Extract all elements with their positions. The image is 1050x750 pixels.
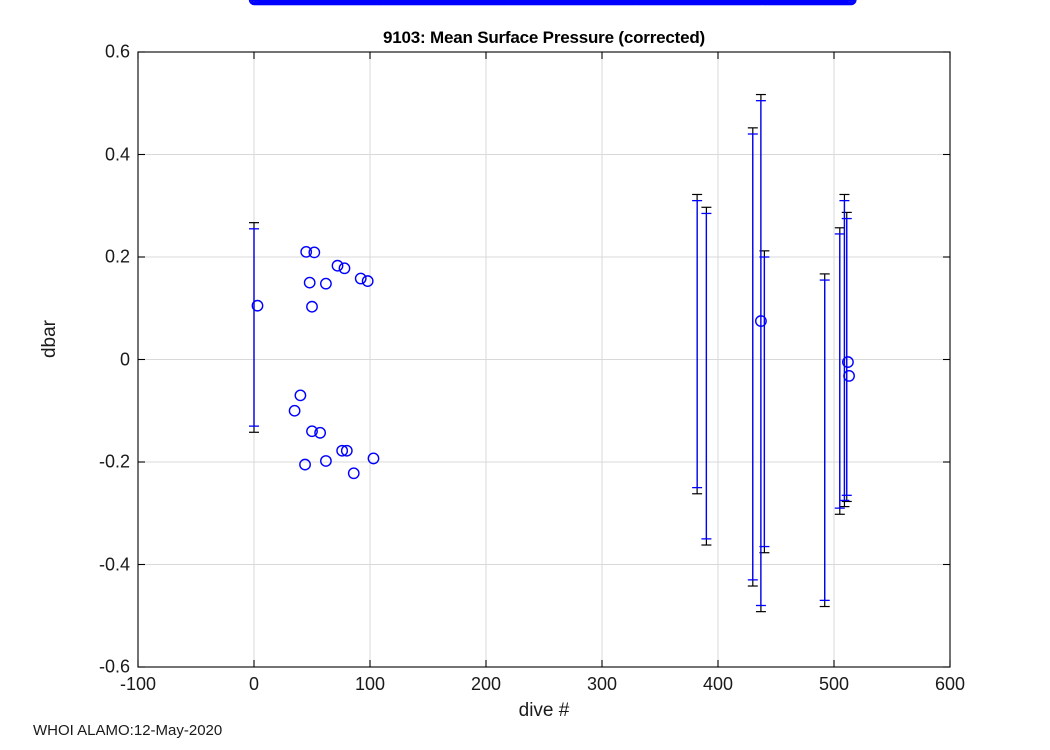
x-tick-label: 100 <box>330 674 410 695</box>
y-axis-tick-labels: 0.60.40.20-0.2-0.4-0.6 <box>68 0 130 750</box>
data-point-marker-outlier <box>295 390 305 400</box>
y-tick-label: 0 <box>70 349 130 370</box>
x-tick-label: 300 <box>562 674 642 695</box>
x-tick-label: 400 <box>678 674 758 695</box>
y-tick-label: 0.2 <box>70 247 130 268</box>
x-tick-label: 600 <box>910 674 990 695</box>
y-tick-label: -0.2 <box>70 452 130 473</box>
y-tick-label: 0.4 <box>70 144 130 165</box>
data-point-marker-outlier <box>349 468 359 478</box>
data-point-marker-outlier <box>321 278 331 288</box>
data-series-errorbars <box>249 0 856 612</box>
data-point-marker-outlier <box>289 406 299 416</box>
chart-title: 9103: Mean Surface Pressure (corrected) <box>138 28 950 48</box>
data-point-marker-outlier <box>339 263 349 273</box>
data-point-marker-outlier <box>356 273 366 283</box>
y-tick-label: -0.4 <box>70 554 130 575</box>
data-point-marker-outlier <box>362 276 372 286</box>
grid-lines <box>138 52 950 667</box>
plot-area <box>0 0 1050 750</box>
x-tick-label: 200 <box>446 674 526 695</box>
x-tick-label: 500 <box>794 674 874 695</box>
data-point-marker-outlier <box>304 277 314 287</box>
data-point-marker-outlier <box>300 459 310 469</box>
figure-canvas: 9103: Mean Surface Pressure (corrected) … <box>0 0 1050 750</box>
x-tick-label: 0 <box>214 674 294 695</box>
y-tick-label: 0.6 <box>70 42 130 63</box>
x-axis-tick-labels: -1000100200300400500600 <box>0 674 1050 704</box>
data-point-marker-outlier <box>844 371 854 381</box>
data-point-marker-outlier <box>307 302 317 312</box>
data-point-marker-outlier <box>332 261 342 271</box>
x-tick-label: -100 <box>98 674 178 695</box>
y-axis-label: dbar <box>39 279 61 399</box>
data-point-marker-outlier <box>321 456 331 466</box>
